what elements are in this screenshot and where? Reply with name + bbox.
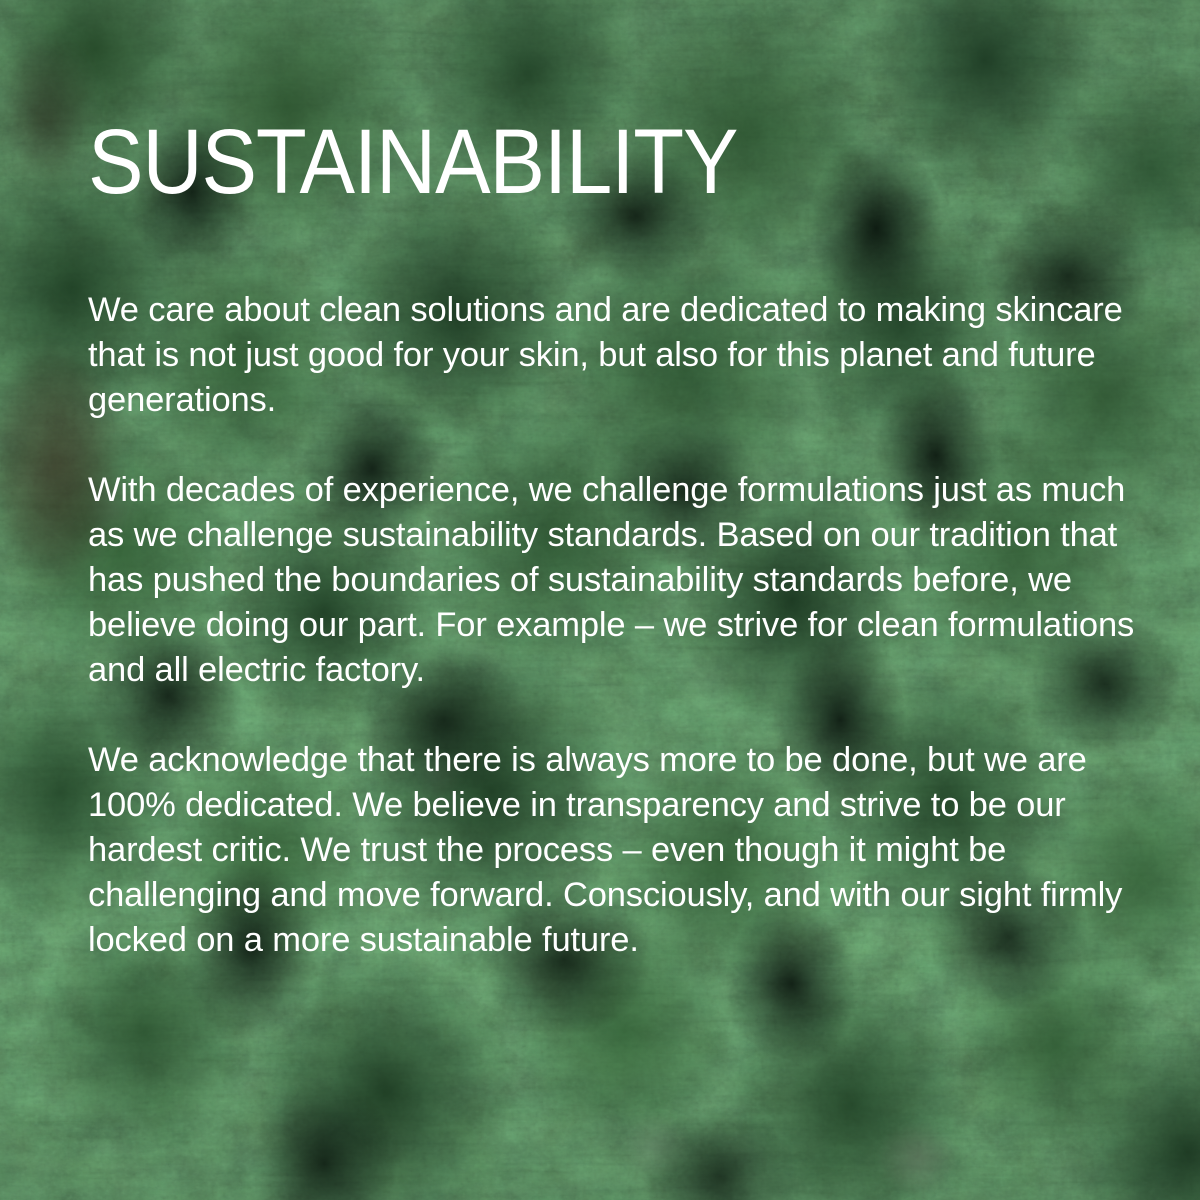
body-copy: We care about clean solutions and are de… [88, 288, 1136, 963]
body-paragraph-2: With decades of experience, we challenge… [88, 468, 1136, 693]
body-paragraph-3: We acknowledge that there is always more… [88, 738, 1136, 963]
sustainability-page: SUSTAINABILITY We care about clean solut… [0, 0, 1200, 1200]
body-paragraph-1: We care about clean solutions and are de… [88, 288, 1136, 423]
page-title: SUSTAINABILITY [88, 116, 738, 208]
content-container: SUSTAINABILITY We care about clean solut… [0, 0, 1200, 1200]
